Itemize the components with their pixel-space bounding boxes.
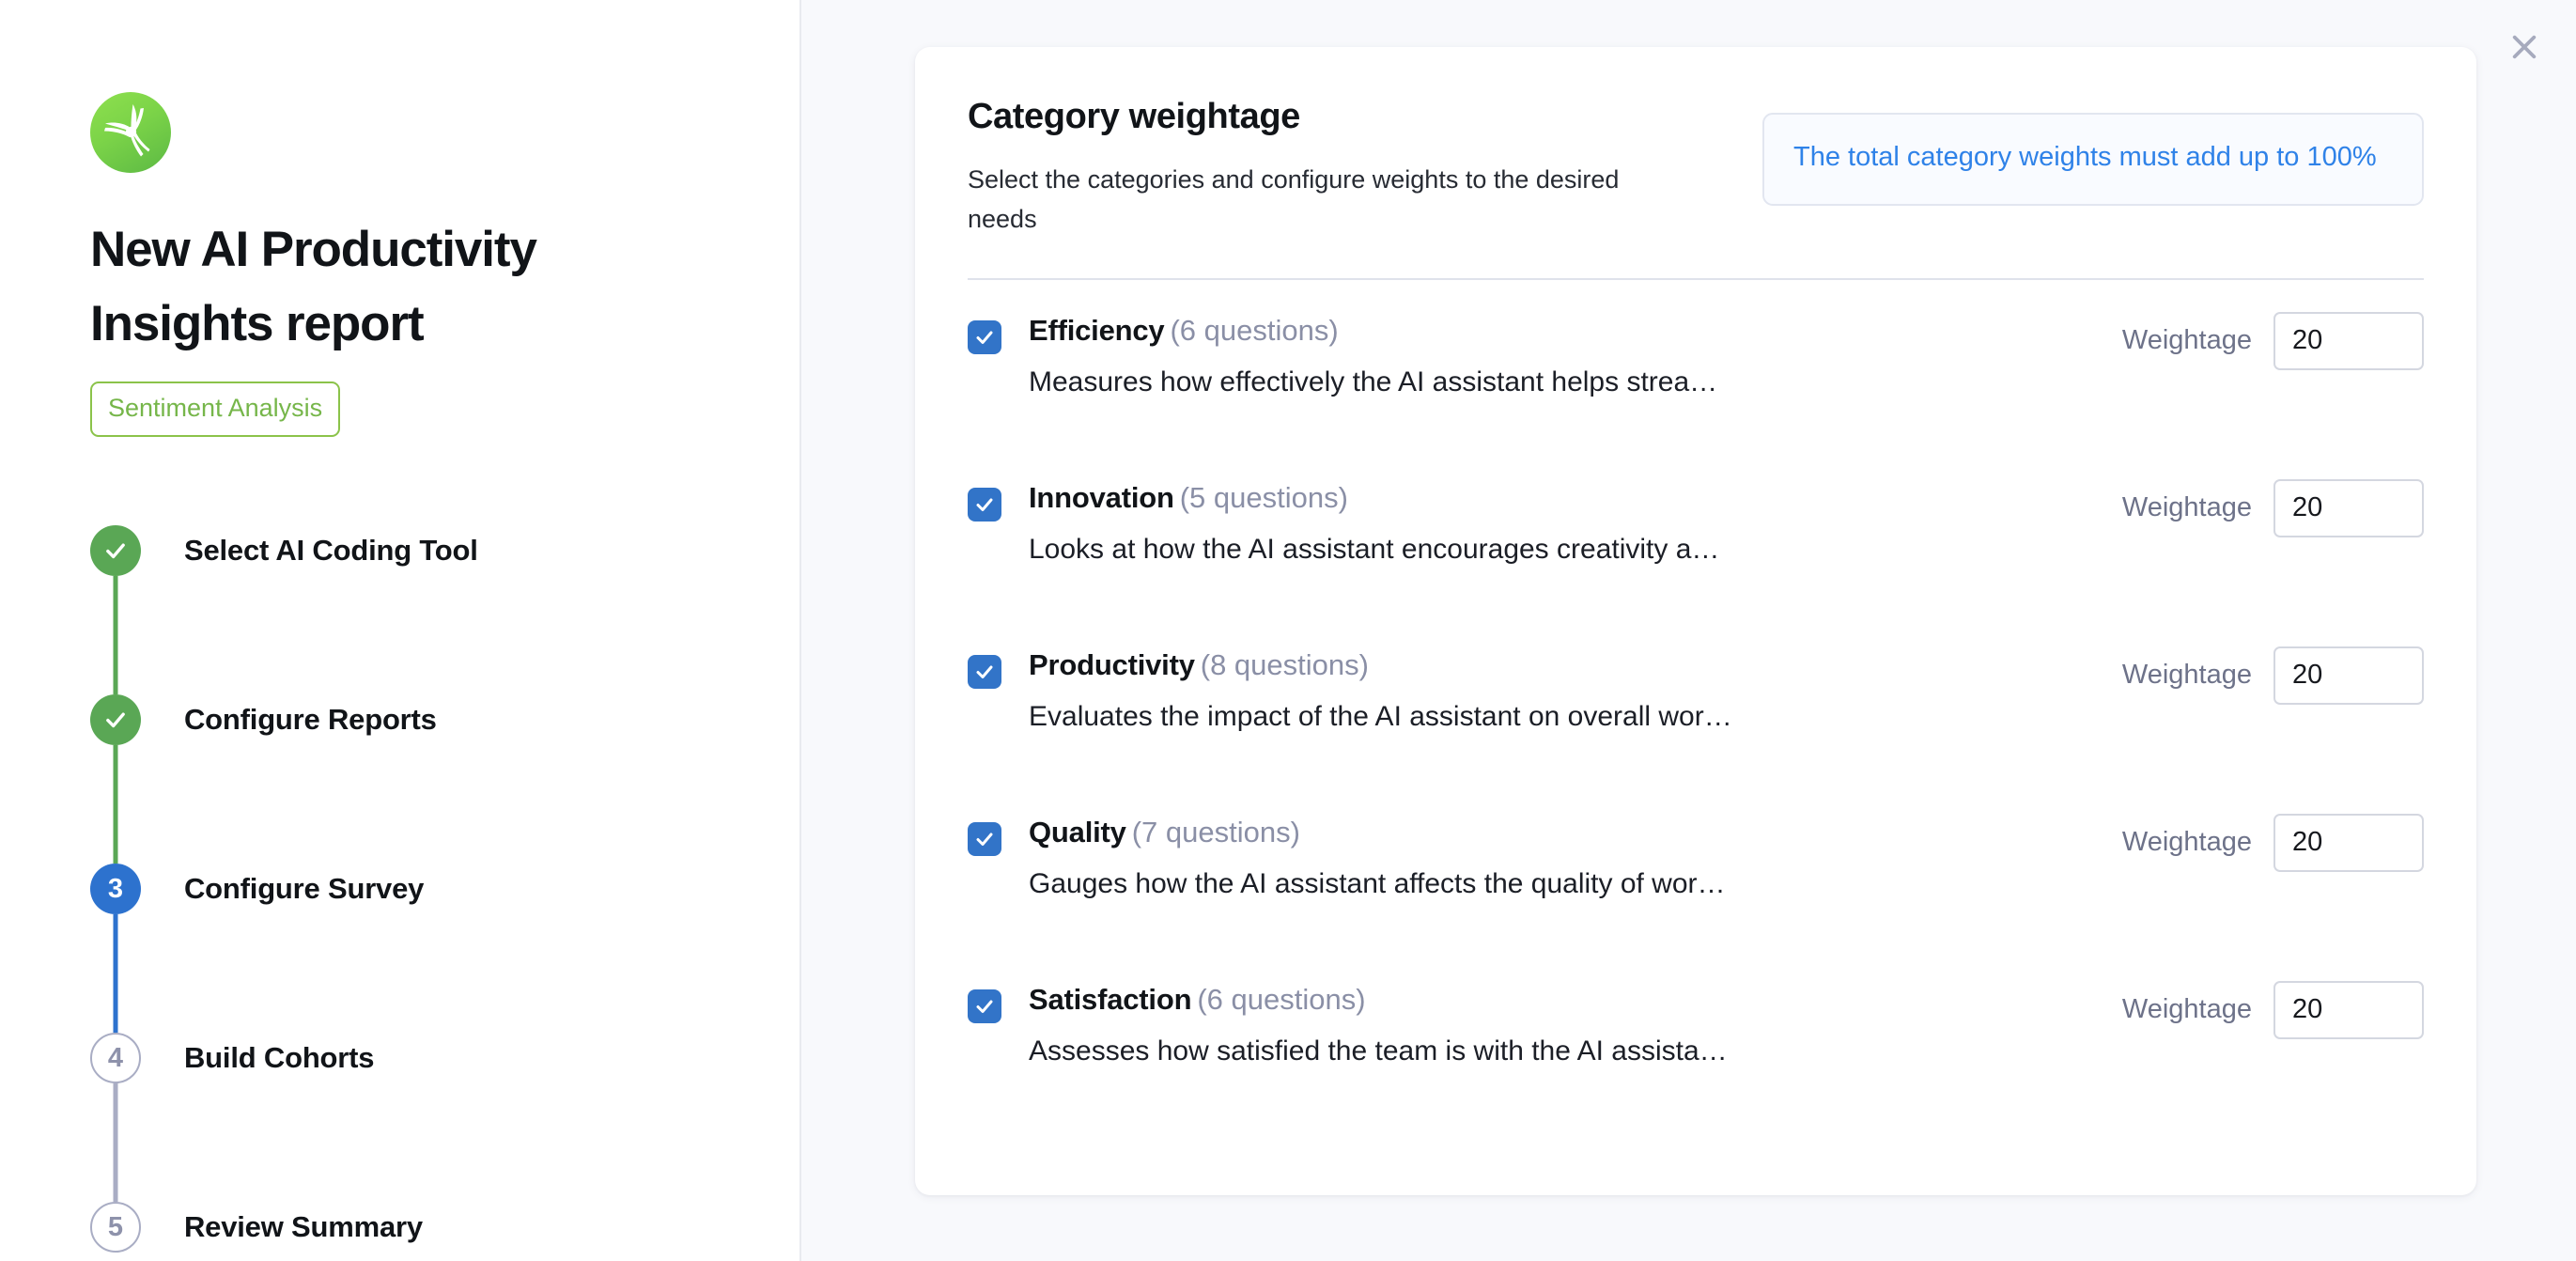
- category-name-line: Efficiency(6 questions): [1029, 310, 2100, 351]
- check-icon: [973, 661, 996, 683]
- category-name-line: Quality(7 questions): [1029, 812, 2100, 853]
- close-button[interactable]: [2498, 21, 2551, 73]
- category-body: Quality(7 questions) Gauges how the AI a…: [1029, 810, 2100, 904]
- step-circle-current: 3: [90, 864, 141, 914]
- category-checkbox[interactable]: [968, 655, 1001, 689]
- card-header-text: Category weightage Select the categories…: [968, 92, 1625, 239]
- check-icon: [973, 326, 996, 349]
- notice-text: The total category weights must add up t…: [1793, 136, 2393, 179]
- status-badge: Sentiment Analysis: [90, 381, 340, 437]
- step-marker: [90, 525, 141, 576]
- propeller-logo-icon: [90, 92, 171, 173]
- step-connector: [114, 745, 118, 864]
- stepper-item-build-cohorts[interactable]: 4 Build Cohorts: [90, 1033, 799, 1202]
- close-icon: [2506, 29, 2542, 65]
- category-row: Satisfaction(6 questions) Assesses how s…: [968, 977, 2424, 1144]
- step-marker: [90, 694, 141, 745]
- category-name: Satisfaction: [1029, 983, 1191, 1016]
- divider: [968, 278, 2424, 280]
- step-circle-todo: 4: [90, 1033, 141, 1083]
- stepper-item-label: Configure Survey: [184, 864, 424, 914]
- main-content: Category weightage Select the categories…: [801, 0, 2576, 1261]
- category-question-count: (8 questions): [1201, 648, 1369, 681]
- check-icon: [102, 707, 129, 733]
- check-icon: [973, 828, 996, 850]
- stepper-item-configure-reports[interactable]: Configure Reports: [90, 694, 799, 864]
- category-description: Looks at how the AI assistant encourages…: [1029, 530, 2039, 569]
- category-list: Efficiency(6 questions) Measures how eff…: [968, 308, 2424, 1144]
- category-checkbox[interactable]: [968, 488, 1001, 522]
- check-icon: [973, 995, 996, 1018]
- stepper-item-label: Review Summary: [184, 1202, 423, 1253]
- weightage-label: Weightage: [2122, 492, 2252, 523]
- category-body: Efficiency(6 questions) Measures how eff…: [1029, 308, 2100, 402]
- card-title: Category weightage: [968, 96, 1625, 139]
- weightage-input[interactable]: [2273, 646, 2424, 705]
- step-circle-todo: 5: [90, 1202, 141, 1253]
- category-weight-group: Weightage: [2122, 479, 2424, 537]
- weightage-input[interactable]: [2273, 312, 2424, 370]
- category-description: Measures how effectively the AI assistan…: [1029, 363, 2039, 402]
- weightage-label: Weightage: [2122, 325, 2252, 356]
- category-name: Efficiency: [1029, 314, 1164, 347]
- category-question-count: (5 questions): [1180, 481, 1348, 514]
- stepper-item-review-summary[interactable]: 5 Review Summary: [90, 1202, 799, 1253]
- sidebar: New AI Productivity Insights report Sent…: [0, 0, 801, 1261]
- category-description: Assesses how satisfied the team is with …: [1029, 1032, 2039, 1071]
- category-question-count: (6 questions): [1170, 314, 1338, 347]
- category-checkbox[interactable]: [968, 320, 1001, 354]
- stepper-item-label: Configure Reports: [184, 694, 437, 745]
- category-weight-group: Weightage: [2122, 646, 2424, 705]
- weightage-label: Weightage: [2122, 660, 2252, 691]
- category-row: Innovation(5 questions) Looks at how the…: [968, 475, 2424, 643]
- page-title: New AI Productivity Insights report: [90, 212, 673, 361]
- category-name-line: Innovation(5 questions): [1029, 477, 2100, 519]
- step-connector: [114, 914, 118, 1033]
- stepper-item-label: Select AI Coding Tool: [184, 525, 478, 576]
- category-weight-group: Weightage: [2122, 312, 2424, 370]
- weightage-input[interactable]: [2273, 814, 2424, 872]
- category-row: Quality(7 questions) Gauges how the AI a…: [968, 810, 2424, 977]
- badge-row: Sentiment Analysis: [90, 381, 799, 437]
- step-connector: [114, 1083, 118, 1202]
- stepper-item-configure-survey[interactable]: 3 Configure Survey: [90, 864, 799, 1033]
- step-marker: 3: [90, 864, 141, 914]
- stepper-item-label: Build Cohorts: [184, 1033, 374, 1083]
- card-subtitle: Select the categories and configure weig…: [968, 160, 1625, 239]
- check-icon: [102, 537, 129, 564]
- category-question-count: (6 questions): [1197, 983, 1365, 1016]
- category-description: Gauges how the AI assistant affects the …: [1029, 864, 2039, 904]
- category-name: Innovation: [1029, 481, 1174, 514]
- category-body: Innovation(5 questions) Looks at how the…: [1029, 475, 2100, 569]
- category-row: Productivity(8 questions) Evaluates the …: [968, 643, 2424, 810]
- total-weights-notice: The total category weights must add up t…: [1762, 113, 2424, 206]
- category-name: Quality: [1029, 816, 1126, 848]
- step-circle-done: [90, 525, 141, 576]
- check-icon: [973, 493, 996, 516]
- category-body: Satisfaction(6 questions) Assesses how s…: [1029, 977, 2100, 1071]
- weightage-label: Weightage: [2122, 994, 2252, 1025]
- app-root: New AI Productivity Insights report Sent…: [0, 0, 2576, 1261]
- step-marker: 4: [90, 1033, 141, 1083]
- step-connector: [114, 576, 118, 694]
- category-weight-group: Weightage: [2122, 814, 2424, 872]
- category-name-line: Productivity(8 questions): [1029, 645, 2100, 686]
- stepper-item-select-ai-coding-tool[interactable]: Select AI Coding Tool: [90, 525, 799, 694]
- category-checkbox[interactable]: [968, 989, 1001, 1023]
- weightage-input[interactable]: [2273, 479, 2424, 537]
- category-name: Productivity: [1029, 648, 1195, 681]
- category-description: Evaluates the impact of the AI assistant…: [1029, 697, 2039, 737]
- weightage-input[interactable]: [2273, 981, 2424, 1039]
- step-circle-done: [90, 694, 141, 745]
- stepper: Select AI Coding Tool Configure Reports: [90, 525, 799, 1253]
- category-checkbox[interactable]: [968, 822, 1001, 856]
- category-weightage-card: Category weightage Select the categories…: [915, 47, 2476, 1195]
- category-name-line: Satisfaction(6 questions): [1029, 979, 2100, 1020]
- category-question-count: (7 questions): [1132, 816, 1300, 848]
- category-body: Productivity(8 questions) Evaluates the …: [1029, 643, 2100, 737]
- weightage-label: Weightage: [2122, 827, 2252, 858]
- category-weight-group: Weightage: [2122, 981, 2424, 1039]
- step-marker: 5: [90, 1202, 141, 1253]
- card-header: Category weightage Select the categories…: [968, 92, 2424, 239]
- category-row: Efficiency(6 questions) Measures how eff…: [968, 308, 2424, 475]
